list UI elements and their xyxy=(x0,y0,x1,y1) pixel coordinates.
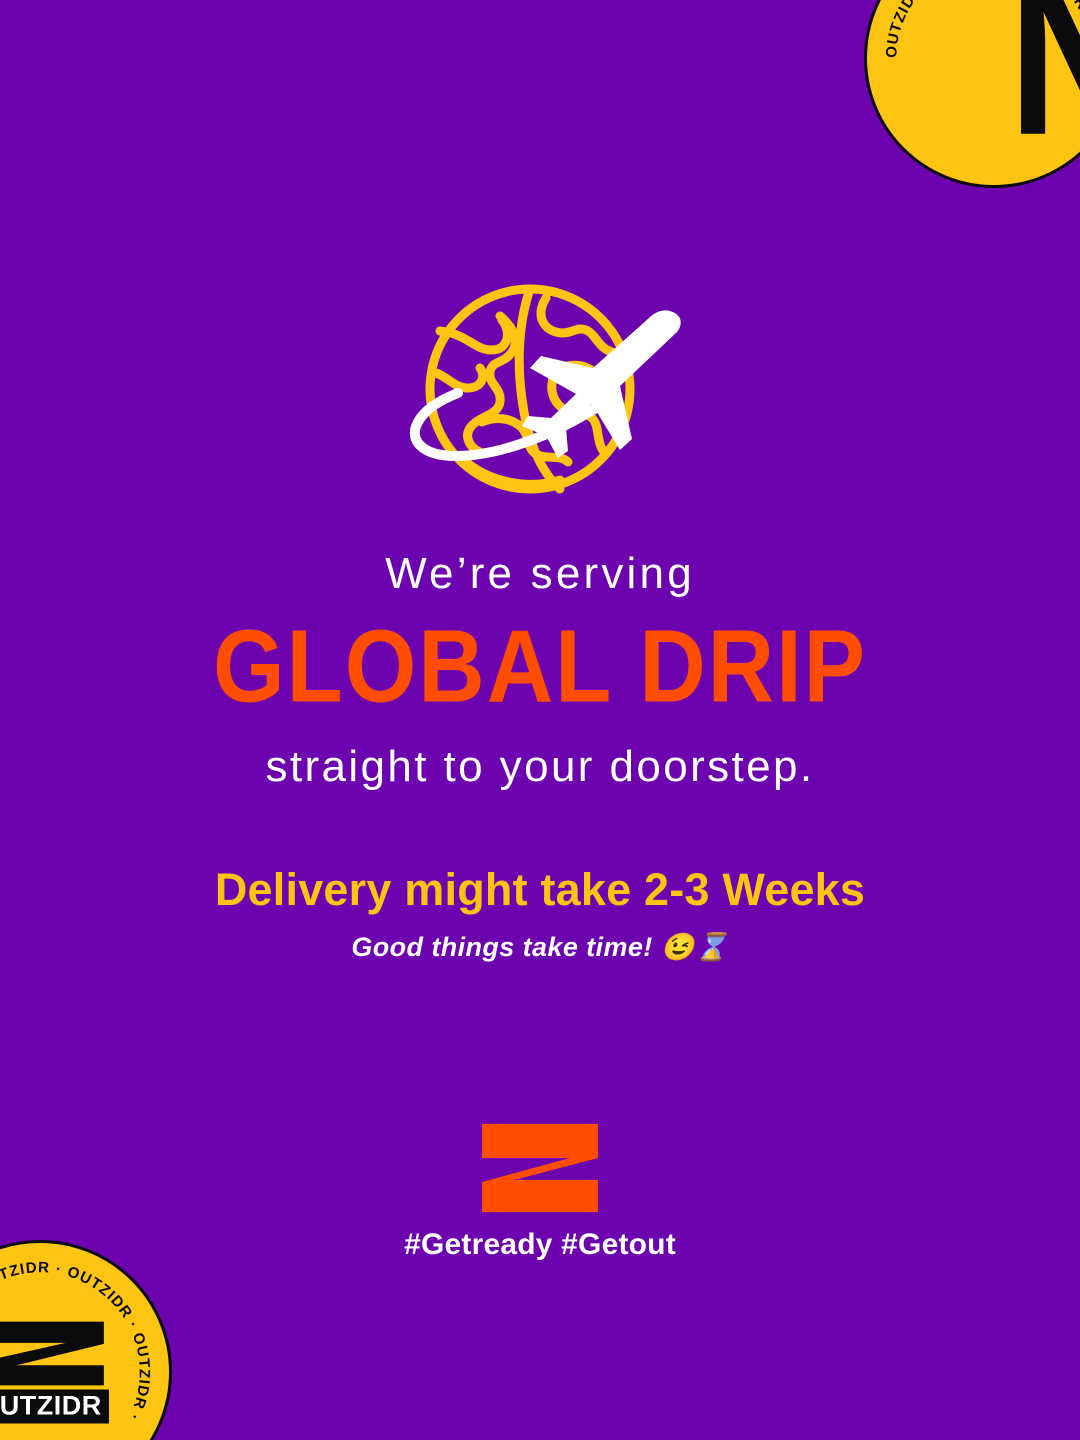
headline-main: GLOBAL DRIP xyxy=(0,612,1080,723)
hero-illustration xyxy=(0,276,1080,506)
badge-core: N xyxy=(974,0,1080,144)
badge-core: OUTZIDR xyxy=(0,1321,115,1424)
headline-tail: straight to your doorstep. xyxy=(0,741,1080,793)
outzidr-sticker-bottom-left: OUTZIDR · OUTZIDR · OUTZIDR · OUTZIDR · … xyxy=(0,1240,172,1440)
delivery-note: Delivery might take 2-3 Weeks xyxy=(0,865,1080,915)
footer-brand: #Getready #Getout xyxy=(0,1122,1080,1262)
promo-poster: We’re serving GLOBAL DRIP straight to yo… xyxy=(0,0,1080,1440)
badge-letter: N xyxy=(1008,0,1080,144)
badge-z-logo xyxy=(0,1321,115,1387)
z-monogram-logo xyxy=(478,1122,602,1214)
copy-block: We’re serving GLOBAL DRIP straight to yo… xyxy=(0,548,1080,963)
outzidr-sticker-top-right: OUTZIDR · OUTZIDR · OUTZIDR · OUTZIDR · … xyxy=(864,0,1080,188)
delivery-subnote: Good things take time! 😉⌛ xyxy=(0,931,1080,963)
headline-eyebrow: We’re serving xyxy=(0,548,1080,600)
badge-wordmark: OUTZIDR xyxy=(0,1390,109,1424)
footer-tagline: #Getready #Getout xyxy=(404,1228,676,1262)
globe-with-airplane-icon xyxy=(370,276,710,506)
